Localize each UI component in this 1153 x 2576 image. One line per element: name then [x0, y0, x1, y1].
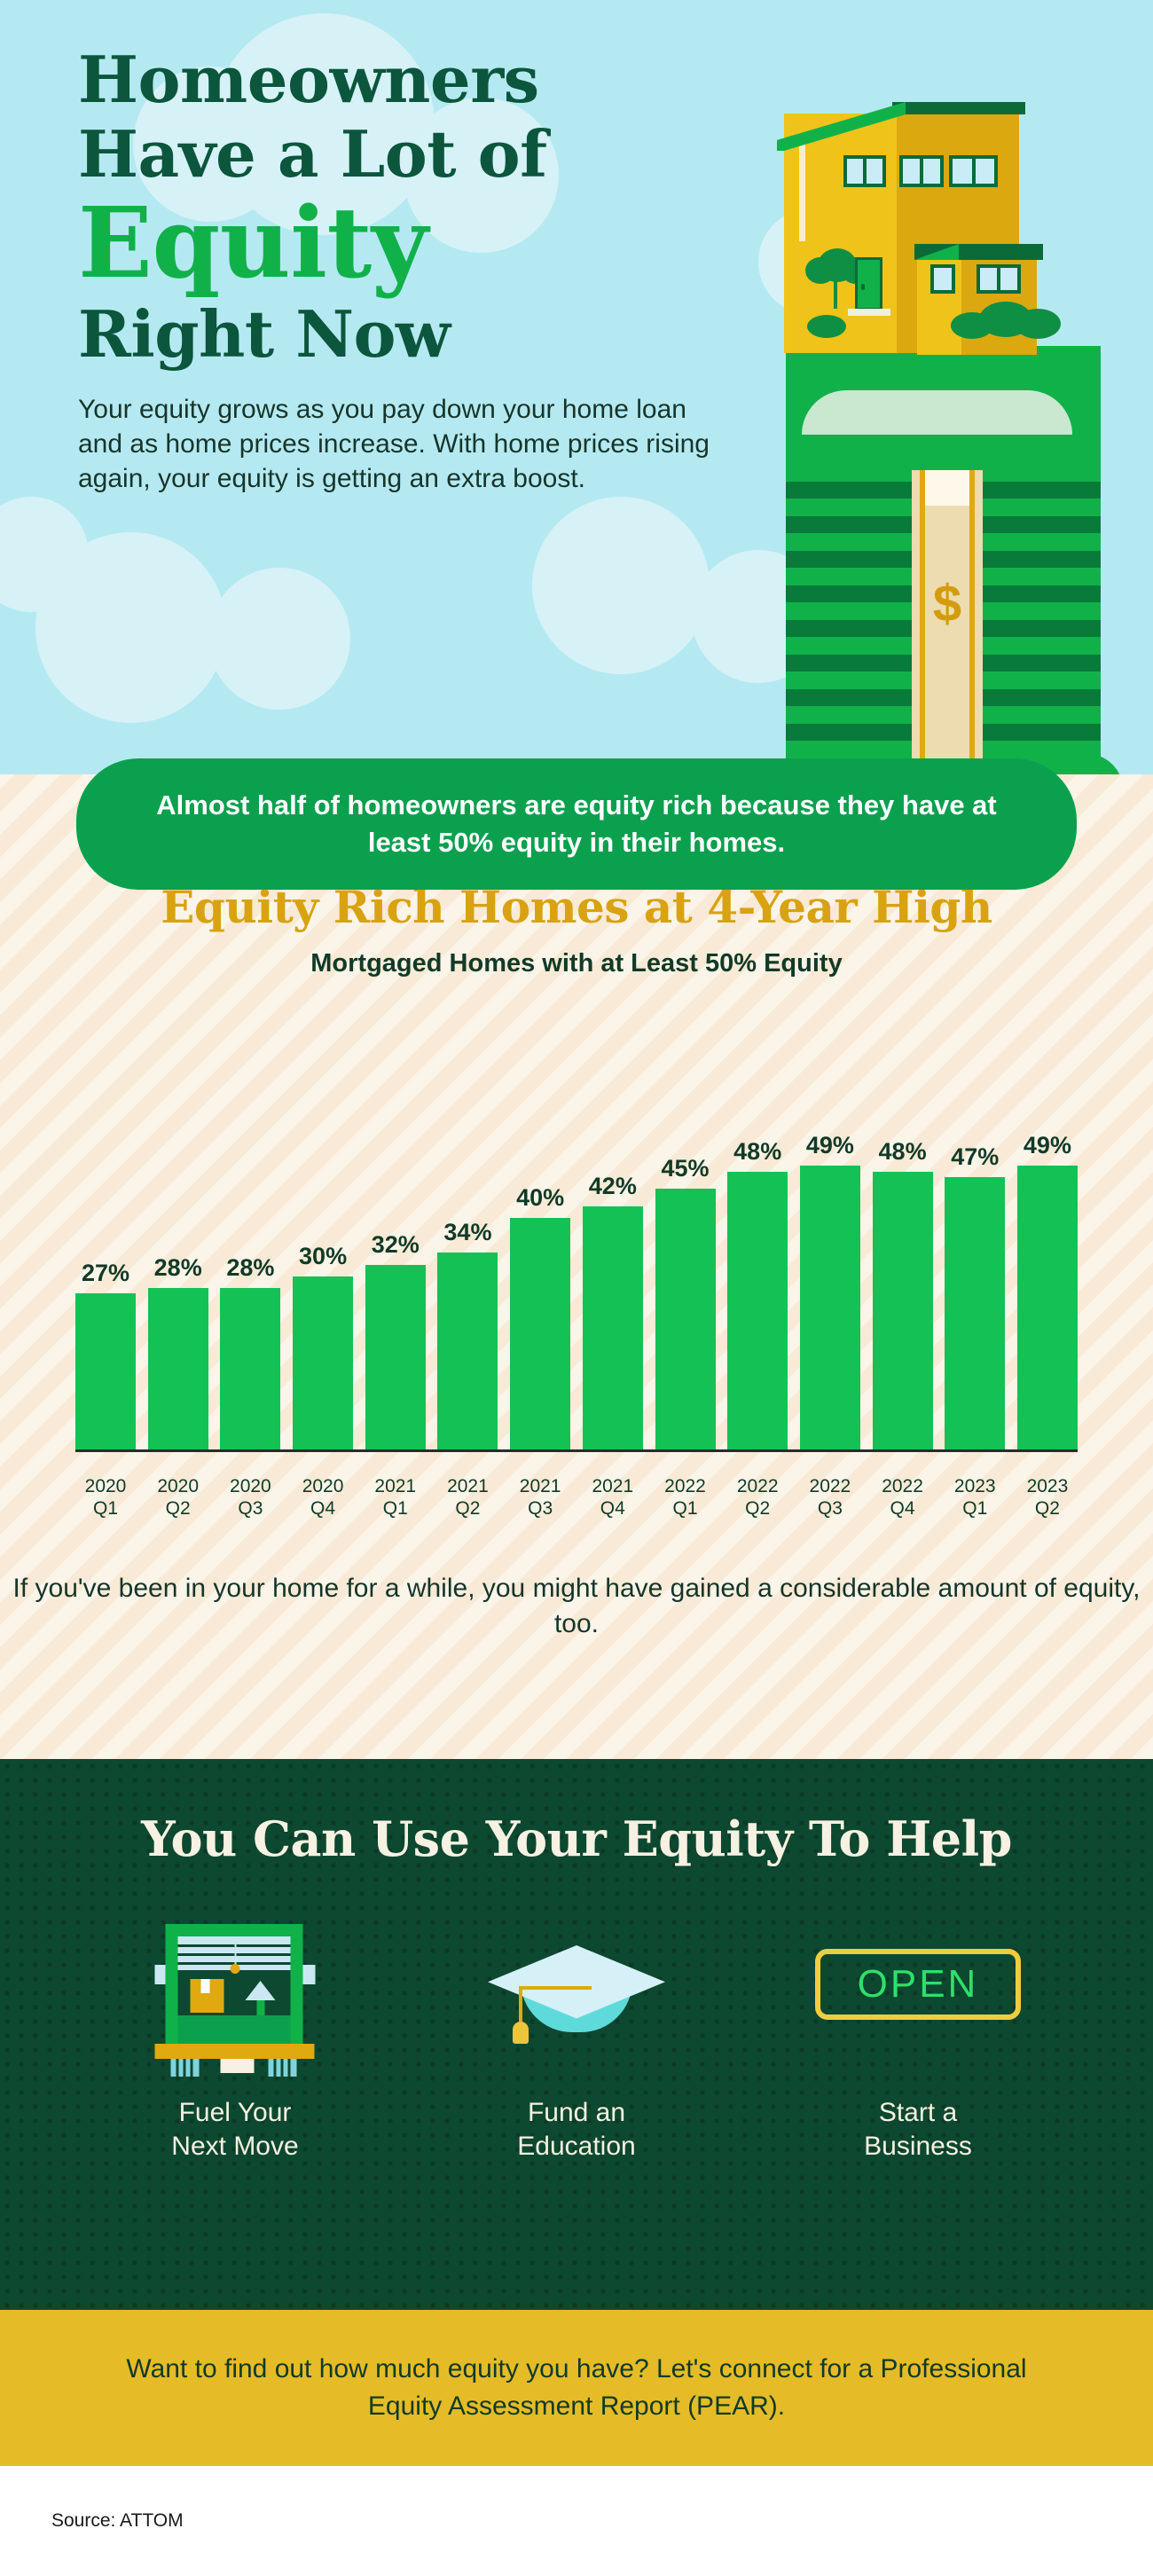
bar-column: 48% [727, 1138, 788, 1450]
bar [220, 1288, 280, 1450]
chart-section: Equity Rich Homes at 4-Year High Mortgag… [0, 774, 1153, 1759]
bar [75, 1293, 136, 1450]
source-line: Source: ATTOM [0, 2466, 1153, 2576]
bar [510, 1218, 570, 1450]
x-axis-line [75, 1449, 1078, 1452]
open-sign-icon: OPEN [789, 1912, 1047, 2080]
bar-value-label: 45% [661, 1155, 709, 1182]
bar-value-label: 42% [589, 1173, 637, 1200]
front-lawn [802, 390, 1072, 435]
x-tick-label: 2021Q2 [437, 1475, 498, 1520]
door-step [848, 309, 890, 316]
source-text: Source: ATTOM [51, 2510, 184, 2532]
window-icon [977, 264, 1021, 294]
house-pillar [799, 133, 805, 241]
x-tick-label: 2023Q2 [1017, 1475, 1078, 1520]
bar-column: 45% [655, 1155, 716, 1450]
bar-column: 47% [945, 1143, 1005, 1450]
bar-chart: 27%28%28%30%32%34%40%42%45%48%49%48%47%4… [75, 1028, 1078, 1489]
equity-uses-title: You Can Use Your Equity To Help [0, 1759, 1153, 1867]
x-tick-label: 2020Q2 [148, 1475, 208, 1520]
bar-value-label: 32% [372, 1231, 420, 1259]
x-tick-label: 2022Q3 [800, 1475, 860, 1520]
use-item-label: Fuel Your Next Move [106, 2096, 364, 2164]
bar-column: 30% [293, 1243, 353, 1450]
graduation-cap-icon [448, 1912, 705, 2080]
house-roof [892, 102, 1025, 114]
x-tick-label: 2020Q4 [293, 1475, 353, 1520]
bar-value-label: 49% [1024, 1132, 1071, 1159]
use-label-line-1: Fund an [448, 2096, 705, 2130]
cloud-icon [532, 497, 710, 674]
money-ribbon: $ [912, 463, 983, 774]
x-tick-label: 2022Q2 [727, 1475, 788, 1520]
bar-series: 27%28%28%30%32%34%40%42%45%48%49%48%47%4… [75, 1078, 1078, 1450]
bar [945, 1177, 1005, 1450]
headline-line-4: Right Now [78, 296, 752, 373]
chart-subtitle: Mortgaged Homes with at Least 50% Equity [0, 949, 1153, 978]
bar-column: 49% [1017, 1132, 1078, 1450]
x-tick-label: 2020Q1 [75, 1475, 136, 1520]
use-label-line-2: Education [448, 2130, 705, 2164]
bar-value-label: 47% [951, 1143, 999, 1171]
use-item-label: Fund an Education [448, 2096, 705, 2164]
bar-value-label: 28% [226, 1254, 274, 1282]
bar-value-label: 48% [879, 1138, 927, 1166]
x-tick-label: 2021Q4 [583, 1475, 643, 1520]
bar [1017, 1166, 1078, 1450]
cta-text: Want to find out how much equity you hav… [89, 2351, 1064, 2425]
bar-column: 32% [365, 1231, 426, 1450]
use-item-education: Fund an Education [448, 1912, 705, 2164]
use-label-line-2: Business [789, 2130, 1047, 2164]
cta-section: Want to find out how much equity you hav… [0, 2310, 1153, 2466]
bar [800, 1166, 860, 1450]
use-label-line-1: Start a [789, 2096, 1047, 2130]
bar-value-label: 34% [443, 1219, 491, 1246]
x-tick-label: 2021Q3 [510, 1475, 570, 1520]
bar [655, 1189, 716, 1450]
bar-value-label: 28% [154, 1254, 202, 1282]
bush-icon [1015, 309, 1061, 339]
bush-icon [807, 315, 846, 338]
equity-rich-banner: Almost half of homeowners are equity ric… [0, 758, 1153, 890]
x-tick-label: 2023Q1 [945, 1475, 1005, 1520]
window-icon [843, 155, 886, 187]
bar-column: 28% [148, 1254, 208, 1450]
x-axis-tick-labels: 2020Q12020Q22020Q32020Q42021Q12021Q22021… [75, 1475, 1078, 1520]
equity-uses-section: You Can Use Your Equity To Help [0, 1759, 1153, 2310]
hero-body-text: Your equity grows as you pay down your h… [78, 392, 717, 496]
bar [365, 1265, 426, 1450]
equity-rich-banner-text: Almost half of homeowners are equity ric… [76, 758, 1077, 890]
use-item-label: Start a Business [789, 2096, 1047, 2164]
bar-column: 40% [510, 1184, 570, 1450]
cloud-icon [35, 532, 226, 723]
cloud-icon [208, 568, 350, 710]
bar-column: 48% [873, 1138, 933, 1450]
hero-section: Homeowners Have a Lot of Equity Right No… [0, 0, 1153, 774]
headline-line-1: Homeowners [78, 43, 752, 117]
bar-value-label: 27% [82, 1260, 129, 1287]
chart-footnote: If you've been in your home for a while,… [0, 1571, 1153, 1642]
bar [583, 1206, 643, 1450]
bar [437, 1253, 498, 1450]
window-icon [899, 155, 944, 187]
bar [873, 1172, 933, 1450]
headline-line-2: Have a Lot of [78, 117, 752, 192]
open-sign-text: OPEN [858, 1962, 979, 2007]
x-tick-label: 2021Q1 [365, 1475, 426, 1520]
x-tick-label: 2022Q1 [655, 1475, 716, 1520]
headline-accent-word: Equity [78, 193, 752, 293]
front-door-icon [855, 257, 882, 310]
bar [293, 1276, 353, 1450]
bar-value-label: 40% [516, 1184, 564, 1212]
use-item-business: OPEN Start a Business [789, 1912, 1047, 2164]
bar [148, 1288, 208, 1450]
house-on-money-illustration: $ [777, 80, 1114, 774]
use-label-line-1: Fuel Your [106, 2096, 364, 2130]
bar-column: 28% [220, 1254, 280, 1450]
bar-value-label: 30% [299, 1243, 347, 1270]
bar-column: 49% [800, 1132, 860, 1450]
moving-truck-icon [106, 1912, 364, 2080]
window-icon [930, 264, 955, 294]
bar-column: 27% [75, 1260, 136, 1450]
bar-column: 34% [437, 1219, 498, 1450]
bar-value-label: 49% [806, 1132, 854, 1159]
window-icon [949, 155, 998, 187]
bar [727, 1172, 788, 1450]
equity-uses-list: Fuel Your Next Move Fund an Education [0, 1912, 1153, 2164]
use-item-move: Fuel Your Next Move [106, 1912, 364, 2164]
dollar-sign-icon: $ [912, 574, 983, 633]
x-tick-label: 2022Q4 [873, 1475, 933, 1520]
use-label-line-2: Next Move [106, 2130, 364, 2164]
x-tick-label: 2020Q3 [220, 1475, 280, 1520]
bar-column: 42% [583, 1173, 643, 1450]
hero-text-block: Homeowners Have a Lot of Equity Right No… [78, 43, 752, 496]
bar-value-label: 48% [733, 1138, 781, 1166]
